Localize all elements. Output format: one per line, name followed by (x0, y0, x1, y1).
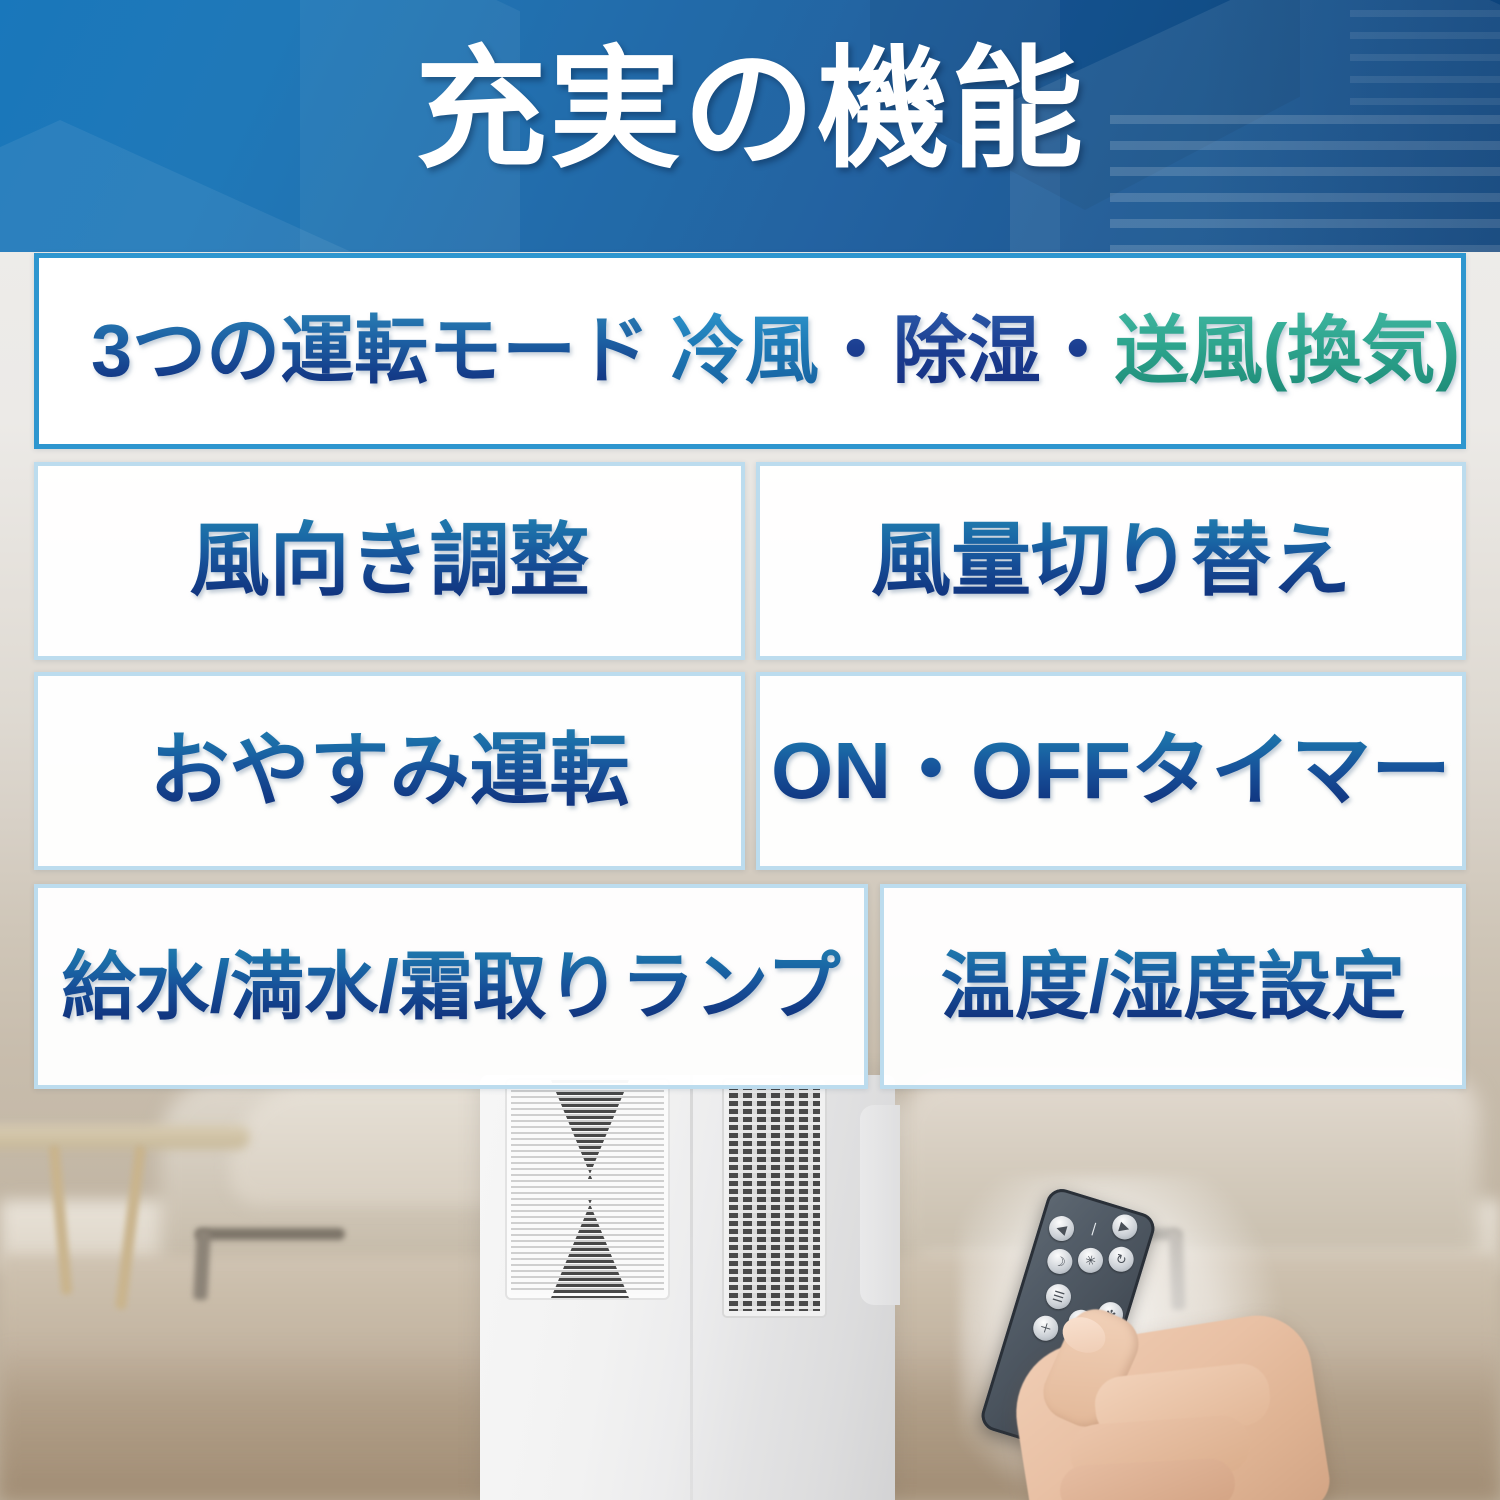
feature-box-temp-humidity-setting[interactable]: 温度/湿度設定 (880, 884, 1466, 1089)
page-title: 充実の機能 (0, 44, 1500, 176)
remote-button-power: ❘ (1079, 1212, 1110, 1243)
feature-box-wind-direction[interactable]: 風向き調整 (34, 462, 745, 660)
air-conditioner-vent-grille (722, 1078, 827, 1318)
remote-button-swing-left: ◀ (1046, 1213, 1077, 1244)
remote-button-timer: ↻ (1106, 1244, 1137, 1275)
feature-box-on-off-timer[interactable]: ON・OFFタイマー (756, 672, 1466, 870)
remote-button-swing-right: ▶ (1109, 1211, 1140, 1242)
feature-label-sleep-mode: おやすみ運転 (38, 729, 741, 813)
sofa-leg-bar-left (195, 1228, 345, 1240)
feature-label-on-off-timer: ON・OFFタイマー (760, 729, 1462, 813)
mode-dehumidify-label: 除湿 (893, 309, 1041, 392)
feature-label-indicator-lamps: 給水/満水/霜取りランプ (38, 948, 864, 1026)
remote-button-mode: ☰ (1043, 1281, 1074, 1312)
side-stool-top (0, 1125, 250, 1149)
air-conditioner-side-panel (860, 1105, 900, 1305)
modes-prefix-text: 3つの運転モード (91, 309, 650, 392)
header-banner: 充実の機能 (0, 0, 1500, 252)
feature-label-operation-modes: 3つの運転モード 冷風・除湿・送風(換気) (39, 312, 1461, 390)
mode-cool-label: 冷風 (671, 309, 819, 392)
feature-box-wind-speed[interactable]: 風量切り替え (756, 462, 1466, 660)
feature-box-operation-modes[interactable]: 3つの運転モード 冷風・除湿・送風(換気) (34, 253, 1466, 449)
feature-box-indicator-lamps[interactable]: 給水/満水/霜取りランプ (34, 884, 868, 1089)
promo-graphic: ◀ ❘ ▶ ☽ ✳ ↻ ☰ ✸ ✻ ＋ 充実の機能 3つの運転モード 冷 (0, 0, 1500, 1500)
remote-button-plus: ＋ (1030, 1313, 1061, 1344)
feature-label-wind-speed: 風量切り替え (760, 519, 1462, 603)
modes-separator-2: ・ (1041, 309, 1115, 392)
remote-button-sleep: ☽ (1044, 1246, 1075, 1277)
air-conditioner-seam (690, 1075, 693, 1500)
feature-label-temp-humidity-setting: 温度/湿度設定 (884, 948, 1462, 1026)
feature-box-sleep-mode[interactable]: おやすみ運転 (34, 672, 745, 870)
air-conditioner-fan-grille (505, 1078, 670, 1300)
modes-cool-text (650, 309, 671, 392)
feature-label-wind-direction: 風向き調整 (38, 519, 741, 603)
vent-louvers (729, 1085, 820, 1311)
remote-button-fan-speed: ✳ (1075, 1245, 1106, 1276)
modes-separator-1: ・ (819, 309, 893, 392)
mode-fan-label: 送風(換気) (1115, 309, 1460, 392)
